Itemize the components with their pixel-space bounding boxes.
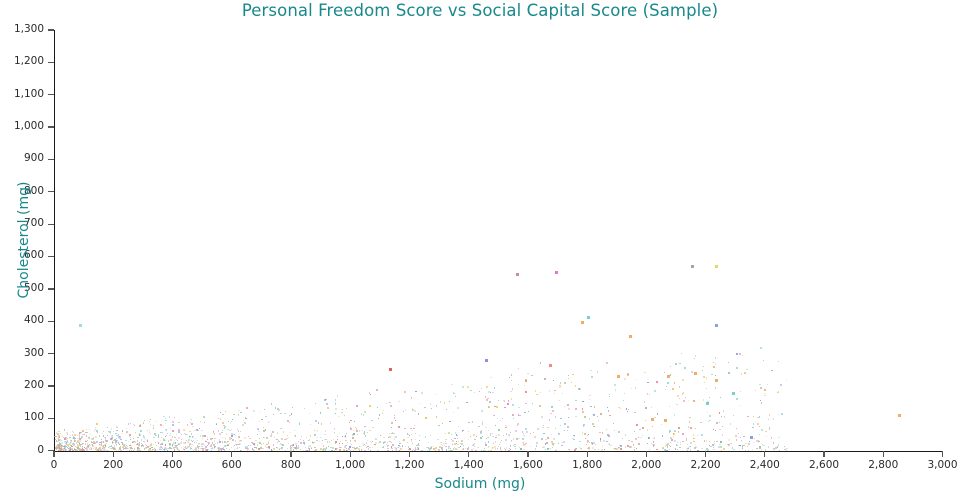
scatter-point [499,434,500,435]
scatter-point [501,450,502,451]
scatter-point [587,435,588,436]
scatter-point [402,440,403,441]
scatter-point [323,450,324,451]
scatter-point [606,429,607,430]
scatter-point [635,379,636,380]
scatter-point [320,448,322,450]
scatter-point [344,415,345,416]
scatter-point [345,435,346,436]
scatter-point [757,417,758,418]
scatter-point [338,416,339,417]
scatter-point [189,431,190,432]
scatter-point [201,443,203,445]
scatter-point [232,419,233,420]
scatter-point [249,438,250,439]
scatter-point [693,434,694,435]
scatter-point [375,438,377,440]
scatter-point [204,422,205,423]
scatter-point [767,384,768,385]
scatter-point [165,420,166,421]
scatter-point [455,396,456,397]
scatter-point [412,409,414,411]
scatter-point [764,393,765,394]
scatter-point [378,418,379,419]
scatter-point [390,405,392,407]
scatter-point [496,406,498,408]
scatter-point [178,444,179,445]
scatter-point [519,438,520,439]
scatter-point [442,423,443,424]
scatter-point [564,430,565,431]
scatter-point [309,413,310,414]
scatter-point [511,398,512,399]
scatter-point [667,375,670,378]
scatter-point [180,433,181,434]
scatter-point [218,430,219,431]
scatter-point [418,449,419,450]
scatter-point [179,450,180,451]
scatter-point [271,403,272,404]
scatter-point [137,437,138,438]
scatter-point [524,412,525,413]
scatter-point [383,410,384,411]
scatter-point [352,434,354,436]
scatter-point [229,443,230,444]
scatter-point [162,444,163,445]
scatter-point [501,440,502,441]
scatter-point [690,442,691,443]
scatter-point [277,442,278,443]
scatter-point [141,439,142,440]
scatter-point [66,439,67,440]
scatter-point [409,450,410,451]
scatter-point [492,392,493,393]
scatter-point [139,434,140,435]
scatter-point [551,406,553,408]
scatter-point [688,446,690,448]
scatter-point [760,400,761,401]
scatter-point [96,423,97,424]
scatter-point [441,447,443,449]
scatter-point [651,407,652,408]
scatter-point [606,362,607,363]
scatter-point [183,429,185,431]
scatter-point [108,431,109,432]
scatter-point [555,416,556,417]
scatter-point [374,444,375,445]
scatter-point [309,445,311,447]
scatter-point [430,403,431,404]
scatter-point [93,445,94,446]
scatter-point [359,450,360,451]
scatter-point [444,402,445,403]
scatter-point [560,382,561,383]
scatter-point [122,443,123,444]
scatter-point [116,444,117,445]
scatter-point [463,448,464,449]
scatter-point [425,417,427,419]
scatter-point [290,432,291,433]
scatter-point [383,437,384,438]
scatter-point [180,442,182,444]
scatter-point [564,406,565,407]
scatter-point [295,443,297,445]
scatter-point [208,449,209,450]
scatter-point [642,435,643,436]
scatter-point [238,410,239,411]
scatter-point [61,450,62,451]
scatter-point [111,428,112,429]
y-tick-label: 200 [0,379,44,391]
scatter-point [284,413,285,414]
x-tick-label: 1,800 [557,459,617,471]
scatter-point [172,430,174,432]
scatter-point [489,401,491,403]
scatter-point [347,442,348,443]
scatter-point [644,401,645,402]
scatter-point [155,450,156,451]
scatter-point [552,410,554,412]
scatter-point [339,433,340,434]
scatter-point [635,412,636,413]
scatter-point [488,430,489,431]
scatter-point [79,434,80,435]
scatter-point [329,441,330,442]
scatter-point [736,398,738,400]
scatter-point [392,448,393,449]
scatter-point [95,449,96,450]
scatter-point [583,424,585,426]
scatter-point [342,436,343,437]
scatter-point [139,442,140,443]
scatter-point [506,433,507,434]
scatter-point [713,444,714,445]
scatter-point [306,437,307,438]
scatter-point [69,437,70,438]
scatter-point [145,439,146,440]
scatter-point [748,450,749,451]
scatter-point [185,446,186,447]
scatter-point [693,441,694,442]
scatter-point [322,440,323,441]
scatter-point [119,443,120,444]
scatter-point [339,445,340,446]
scatter-point [214,440,215,441]
scatter-point [318,422,319,423]
scatter-point [505,449,506,450]
scatter-point [77,451,78,452]
scatter-point [60,440,61,441]
scatter-point [370,450,371,451]
scatter-point [93,443,94,444]
scatter-point [337,395,338,396]
scatter-point [649,394,650,395]
scatter-point [75,440,76,441]
scatter-point [87,448,88,449]
scatter-point [666,386,667,387]
scatter-point [187,424,188,425]
scatter-point [683,441,684,442]
scatter-point [568,449,569,450]
scatter-point [473,434,475,436]
scatter-point [761,402,762,403]
scatter-point [481,433,482,434]
scatter-point [568,375,569,376]
scatter-point [169,416,170,417]
scatter-point [733,449,734,450]
scatter-point [85,440,86,441]
scatter-point [307,450,308,451]
scatter-point [240,450,241,451]
scatter-point [739,353,740,354]
scatter-point [301,436,302,437]
scatter-point [498,438,499,439]
scatter-point [451,384,452,385]
scatter-point [200,435,201,436]
scatter-point [81,438,82,439]
scatter-point [145,447,147,449]
x-tick-label: 2,800 [853,459,913,471]
scatter-point [571,382,572,383]
scatter-point [460,446,461,447]
scatter-point [129,450,130,451]
scatter-point [680,442,681,443]
scatter-point [364,450,365,451]
scatter-point [582,411,583,412]
scatter-point [481,450,482,451]
scatter-point [345,445,346,446]
scatter-chart-figure: Personal Freedom Score vs Social Capital… [0,0,960,500]
scatter-point [317,437,318,438]
scatter-point [549,419,550,420]
scatter-point [745,443,746,444]
scatter-point [535,390,536,391]
scatter-point [320,412,321,413]
scatter-point [238,444,239,445]
scatter-point [377,407,378,408]
scatter-point [172,424,173,425]
scatter-point [721,450,722,451]
scatter-point [667,382,668,383]
scatter-point [54,436,55,437]
scatter-point [618,447,619,448]
scatter-point [457,449,458,450]
scatter-point [759,441,760,442]
scatter-point [598,420,599,421]
scatter-point [82,434,83,435]
scatter-point [765,431,766,432]
scatter-point [685,397,686,398]
scatter-point [477,447,478,448]
scatter-point [100,451,101,452]
scatter-point [259,421,260,422]
scatter-point [494,406,495,407]
scatter-point [251,417,252,418]
scatter-point [193,436,194,437]
scatter-point [419,445,420,446]
scatter-point [687,450,688,451]
scatter-point [327,441,328,442]
scatter-point [279,448,280,449]
scatter-point [259,438,260,439]
scatter-point [233,414,234,415]
scatter-point [754,438,755,439]
scatter-point [107,451,108,452]
scatter-point [519,415,520,416]
scatter-point [367,440,368,441]
scatter-point [202,438,203,439]
scatter-point [292,446,293,447]
scatter-point [419,440,420,441]
scatter-point [391,451,392,452]
scatter-point [90,433,91,434]
scatter-point [160,444,161,445]
scatter-point [656,381,657,382]
scatter-point [239,444,240,445]
scatter-point [137,440,138,441]
scatter-point [355,441,356,442]
scatter-point [56,449,57,450]
x-tick-label: 600 [202,459,262,471]
scatter-point [166,429,167,430]
scatter-point [683,392,684,393]
scatter-point [193,440,194,441]
scatter-point [176,434,177,435]
scatter-point [757,423,759,425]
scatter-point [547,437,548,438]
scatter-point [664,449,666,451]
scatter-point [736,439,737,440]
scatter-point [647,443,648,444]
scatter-point [467,449,468,450]
scatter-point [315,403,316,404]
scatter-point [167,451,168,452]
scatter-point [764,389,766,391]
scatter-point [167,433,168,434]
scatter-point [395,420,396,421]
y-tick-label: 100 [0,411,44,423]
scatter-point [627,411,628,412]
scatter-point [345,440,346,441]
scatter-point [223,447,224,448]
scatter-point [497,448,498,449]
scatter-point [558,443,559,444]
scatter-point [498,429,500,431]
scatter-point [703,399,704,400]
scatter-point [508,450,509,451]
scatter-point [724,416,725,417]
scatter-point [79,324,82,327]
scatter-point [160,446,162,448]
scatter-point [262,451,264,452]
scatter-point [764,395,765,396]
scatter-point [618,431,620,433]
scatter-point [545,443,546,444]
scatter-point [127,448,128,449]
scatter-point [505,425,506,426]
scatter-point [279,441,280,442]
scatter-point [677,395,679,397]
scatter-point [675,448,676,449]
scatter-point [169,447,171,449]
scatter-point [586,444,587,445]
scatter-point [714,443,715,444]
scatter-point [452,444,453,445]
scatter-point [363,445,364,446]
scatter-point [747,416,748,417]
scatter-point [391,427,392,428]
scatter-point [554,390,555,391]
scatter-point [679,447,680,448]
scatter-point [346,433,347,434]
scatter-point [500,442,501,443]
x-tick-label: 1,400 [439,459,499,471]
scatter-point [559,400,560,401]
scatter-point [555,271,558,274]
scatter-point [628,440,629,441]
scatter-point [525,428,527,430]
scatter-point [513,418,514,419]
scatter-point [599,432,600,433]
x-tick-mark [113,451,114,457]
scatter-point [526,431,528,433]
scatter-point [164,440,165,441]
scatter-point [211,450,212,451]
y-tick-label: 1,100 [0,88,44,100]
scatter-point [589,399,590,400]
scatter-point [116,438,117,439]
scatter-point [681,353,682,354]
scatter-point [149,429,150,430]
scatter-point [416,445,417,446]
scatter-point [645,407,647,409]
scatter-point [453,412,454,413]
scatter-point [495,437,496,438]
scatter-point [761,429,763,431]
scatter-point [530,433,531,434]
scatter-point [593,414,595,416]
scatter-point [679,363,680,364]
scatter-point [217,442,218,443]
scatter-point [627,373,628,374]
scatter-point [679,398,680,399]
scatter-point [461,440,462,441]
scatter-point [549,448,550,449]
scatter-point [697,450,698,451]
scatter-point [252,442,253,443]
scatter-point [480,433,481,434]
scatter-point [361,450,362,451]
scatter-point [231,433,233,435]
scatter-point [222,414,223,415]
scatter-point [289,422,290,423]
scatter-point [617,448,618,449]
scatter-point [414,410,416,412]
scatter-point [170,428,171,429]
scatter-point [147,440,148,441]
scatter-point [670,446,671,447]
scatter-point [597,416,598,417]
scatter-point [149,431,150,432]
scatter-point [498,400,499,401]
scatter-point [719,429,720,430]
scatter-point [372,427,373,428]
scatter-point [576,448,577,449]
scatter-point [130,423,131,424]
scatter-point [510,445,511,446]
scatter-point [563,441,565,443]
scatter-point [219,433,221,435]
